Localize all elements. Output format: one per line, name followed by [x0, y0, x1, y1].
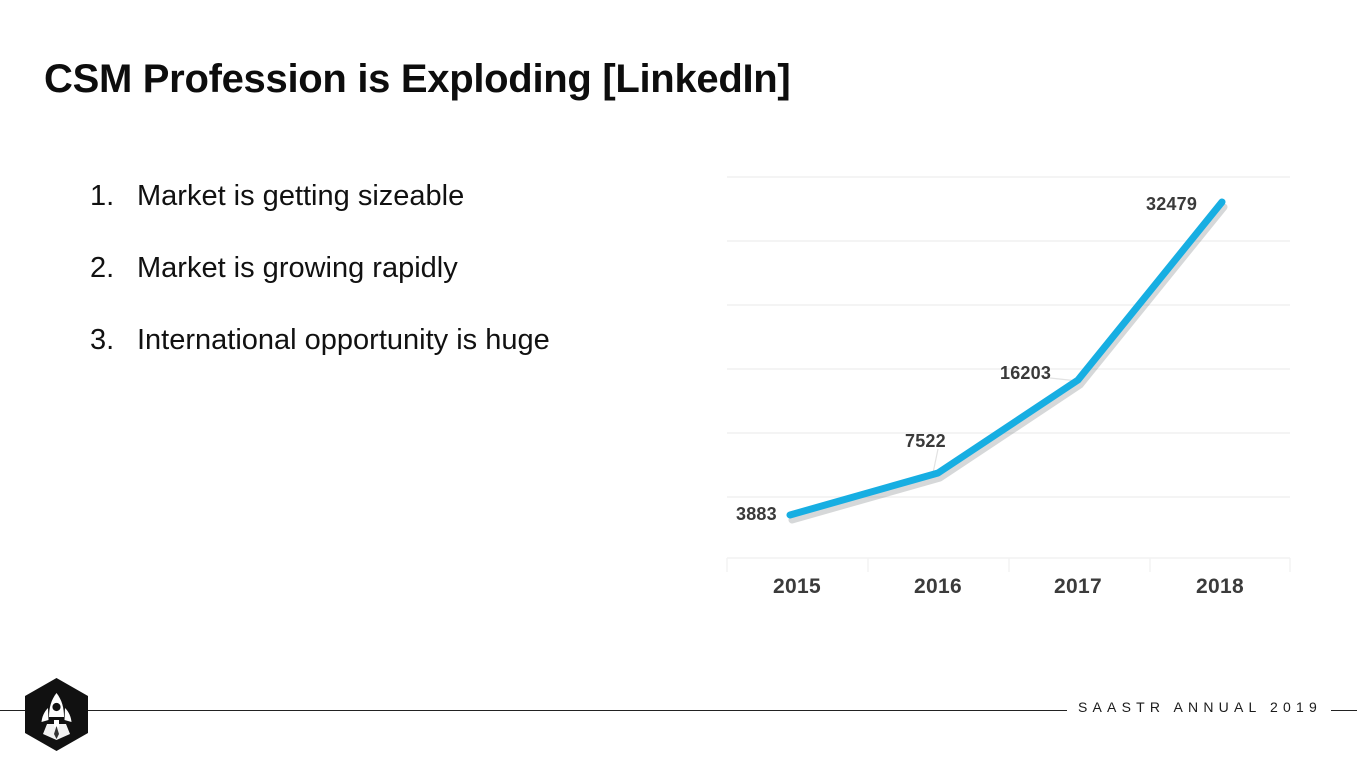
data-label-2017: 16203 — [1000, 363, 1051, 384]
list-item-label: Market is getting sizeable — [137, 180, 464, 213]
line-chart: 3883 7522 16203 32479 2015 2016 2017 201… — [700, 160, 1320, 620]
x-axis-label-2017: 2017 — [1054, 575, 1102, 599]
list-item-number: 3. — [90, 324, 137, 357]
series-line-group — [790, 202, 1224, 520]
list-item-number: 2. — [90, 252, 137, 285]
x-axis — [727, 558, 1290, 572]
chart-canvas — [700, 160, 1320, 620]
x-axis-label-2015: 2015 — [773, 575, 821, 599]
data-label-2015: 3883 — [736, 504, 777, 525]
saastr-rocket-hexagon-logo — [23, 677, 90, 752]
page-title: CSM Profession is Exploding [LinkedIn] — [44, 57, 790, 102]
list-item: 1. Market is getting sizeable — [90, 180, 710, 213]
data-label-2016: 7522 — [905, 431, 946, 452]
list-item-label: Market is growing rapidly — [137, 252, 458, 285]
list-item: 2. Market is growing rapidly — [90, 252, 710, 285]
footer-event-label: SAASTR ANNUAL 2019 — [1067, 699, 1331, 715]
series-line — [790, 202, 1222, 515]
list-item: 3. International opportunity is huge — [90, 324, 710, 357]
x-axis-label-2016: 2016 — [914, 575, 962, 599]
bullet-list: 1. Market is getting sizeable 2. Market … — [90, 180, 710, 396]
x-axis-label-2018: 2018 — [1196, 575, 1244, 599]
data-label-2018: 32479 — [1146, 194, 1197, 215]
list-item-label: International opportunity is huge — [137, 324, 550, 357]
list-item-number: 1. — [90, 180, 137, 213]
